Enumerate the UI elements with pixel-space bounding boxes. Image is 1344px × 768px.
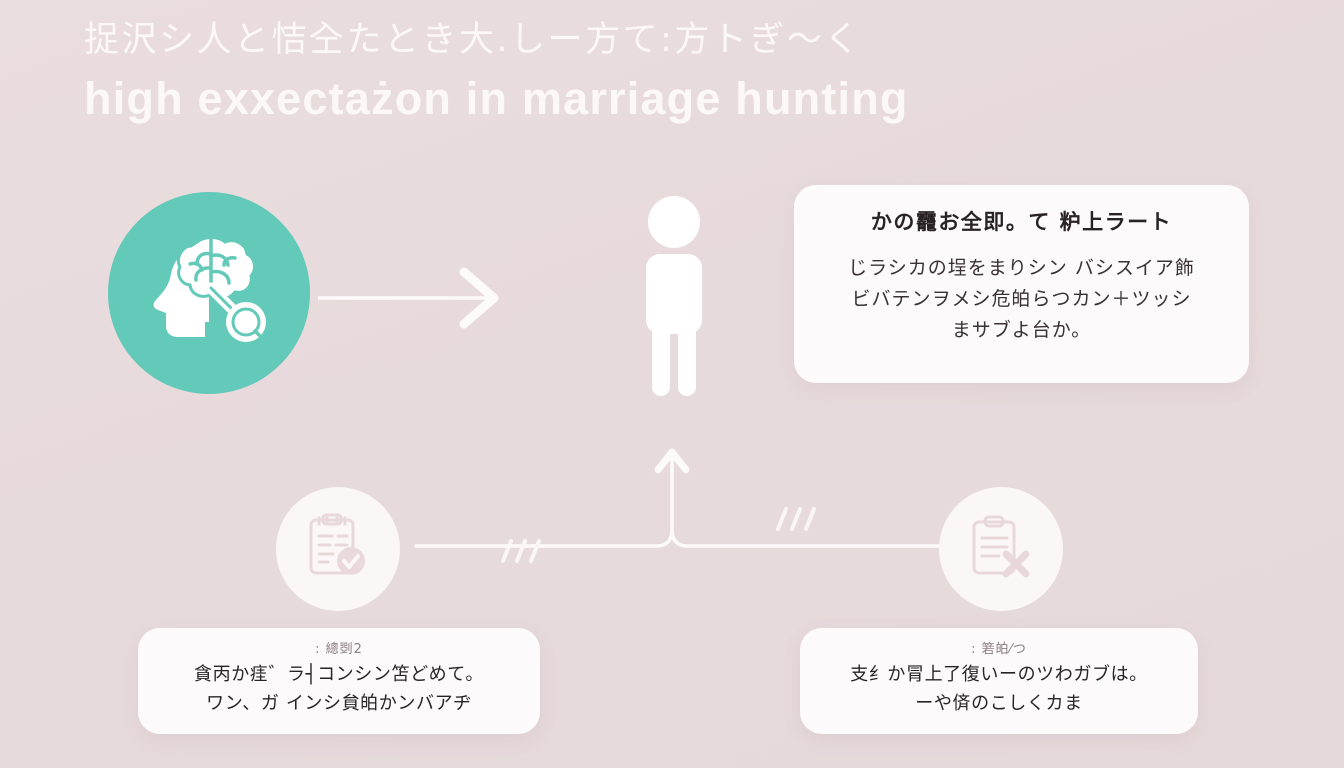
card-body-line: まサブよ台か。: [820, 315, 1223, 346]
card-heading: かの龗お全即。て 粐上ラート: [820, 207, 1223, 237]
bottom-right-body-line: 支纟か冐上了復いーのツわガブは。: [820, 660, 1178, 689]
bottom-left-label: : 總㓸2: [158, 642, 520, 658]
card-body-line: じラシカの埕をまりシン バシスイア飾: [820, 253, 1223, 284]
bottom-right-body: 支纟か冐上了復いーのツわガブは。 ーや㑪のこしくカま: [820, 660, 1178, 718]
brain-icon-circle: [108, 192, 310, 394]
card-body: じラシカの埕をまりシン バシスイア飾 ビバテンヲメシ危㿟らつカン＋ツッシ まサブ…: [820, 253, 1223, 346]
person-figure-icon: [630, 196, 718, 396]
title-japanese: 捉沢シ人と恄㒰たとき大.しー方て:方トぎ〜く: [84, 14, 1264, 66]
title-english: high exxectażon in marriage hunting: [84, 68, 1264, 130]
bottom-right-body-line: ーや㑪のこしくカま: [820, 689, 1178, 718]
bottom-left-body: 貪丙か㾏゛ラ┤コンシン笘どめて。 ワン、ガ インシ貟㿟かンバアヂ: [158, 660, 520, 718]
right-arrow: [318, 262, 514, 334]
bottom-right-card: : 箬㿟⁄つ 支纟か冐上了復いーのツわガブは。 ーや㑪のこしくカま: [800, 628, 1198, 734]
head-brain-magnifier-icon: [145, 234, 273, 352]
main-description-card: かの龗お全即。て 粐上ラート じラシカの埕をまりシン バシスイア飾 ビバテンヲメ…: [794, 185, 1249, 383]
clipboard-check-circle: [276, 487, 400, 611]
bottom-left-body-line: 貪丙か㾏゛ラ┤コンシン笘どめて。: [158, 660, 520, 689]
page-title: 捉沢シ人と恄㒰たとき大.しー方て:方トぎ〜く high exxectażon i…: [84, 14, 1264, 130]
clipboard-check-icon: [303, 512, 373, 587]
tick-marks-left: [495, 535, 555, 572]
card-body-line: ビバテンヲメシ危㿟らつカン＋ツッシ: [820, 284, 1223, 315]
infographic-canvas: 捉沢シ人と恄㒰たとき大.しー方て:方トぎ〜く high exxectażon i…: [0, 0, 1344, 768]
bottom-left-card: : 總㓸2 貪丙か㾏゛ラ┤コンシン笘どめて。 ワン、ガ インシ貟㿟かンバアヂ: [138, 628, 540, 734]
clipboard-cross-icon: [966, 512, 1036, 587]
bottom-left-body-line: ワン、ガ インシ貟㿟かンバアヂ: [158, 689, 520, 718]
bottom-right-label: : 箬㿟⁄つ: [820, 642, 1178, 658]
connector-lines: [400, 430, 960, 560]
clipboard-cross-circle: [939, 487, 1063, 611]
tick-marks-right: [770, 503, 830, 540]
